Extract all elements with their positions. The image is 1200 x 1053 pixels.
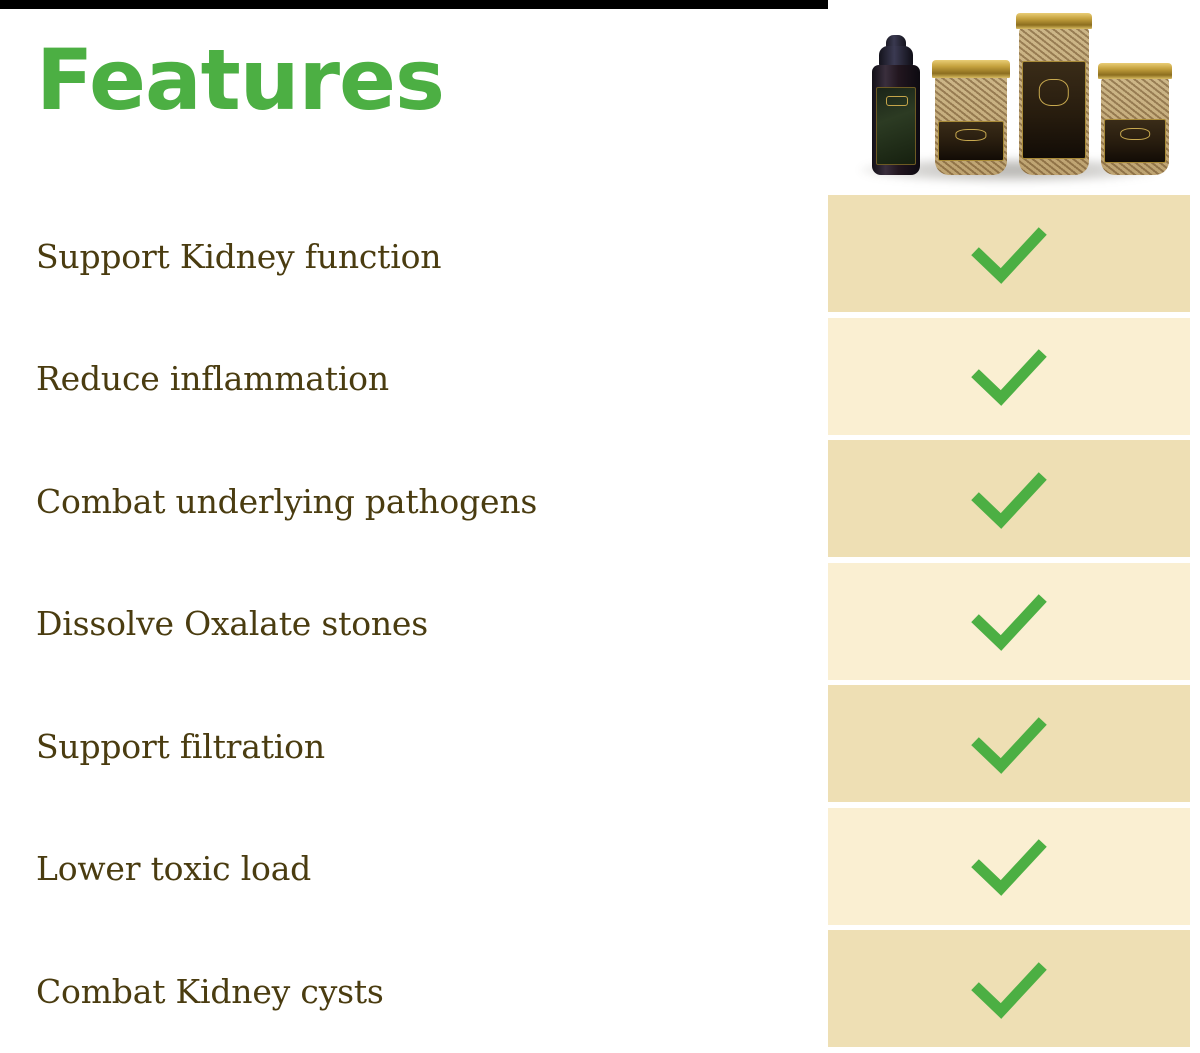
feature-row: Support Kidney function bbox=[0, 195, 828, 318]
feature-label: Support Kidney function bbox=[0, 237, 441, 276]
feature-row: Reduce inflammation bbox=[0, 318, 828, 441]
jar-lid bbox=[1098, 63, 1172, 79]
check-band bbox=[828, 195, 1190, 312]
jar-label bbox=[1104, 119, 1166, 163]
feature-row: Dissolve Oxalate stones bbox=[0, 563, 828, 686]
feature-label: Dissolve Oxalate stones bbox=[0, 604, 428, 643]
feature-row: Combat underlying pathogens bbox=[0, 440, 828, 563]
check-icon bbox=[970, 224, 1048, 284]
jar-label bbox=[938, 121, 1004, 161]
feature-label: Lower toxic load bbox=[0, 849, 311, 888]
features-slide: Features Support Kidney function Reduce … bbox=[0, 0, 1200, 1053]
page-title: Features bbox=[36, 38, 444, 122]
jar-lid bbox=[932, 60, 1010, 78]
check-band bbox=[828, 685, 1190, 802]
check-band-list bbox=[828, 195, 1190, 1053]
stonebreaker-jar bbox=[1016, 13, 1092, 175]
jar-lid bbox=[1016, 13, 1092, 29]
jar-label bbox=[1022, 61, 1086, 159]
feature-label: Combat underlying pathogens bbox=[0, 482, 537, 521]
product-lineup-image bbox=[828, 0, 1190, 195]
feature-row: Lower toxic load bbox=[0, 808, 828, 931]
feature-row: Support filtration bbox=[0, 685, 828, 808]
check-icon bbox=[970, 469, 1048, 529]
check-band bbox=[828, 440, 1190, 557]
top-accent-bar bbox=[0, 0, 828, 9]
tincture-dropper-bottle bbox=[872, 35, 920, 175]
check-band bbox=[828, 808, 1190, 925]
check-icon bbox=[970, 714, 1048, 774]
check-icon bbox=[970, 959, 1048, 1019]
feature-label: Support filtration bbox=[0, 727, 325, 766]
feature-row: Combat Kidney cysts bbox=[0, 930, 828, 1053]
milk-thistle-seeds-jar bbox=[1098, 63, 1172, 175]
checkmark-column bbox=[828, 0, 1200, 1053]
feature-label-list: Support Kidney function Reduce inflammat… bbox=[0, 195, 828, 1053]
check-icon bbox=[970, 591, 1048, 651]
feature-label: Reduce inflammation bbox=[0, 359, 389, 398]
check-band bbox=[828, 318, 1190, 435]
bottle-label bbox=[876, 87, 916, 165]
check-icon bbox=[970, 836, 1048, 896]
check-band bbox=[828, 930, 1190, 1047]
astragalus-root-jar bbox=[932, 60, 1010, 175]
check-band bbox=[828, 563, 1190, 680]
check-icon bbox=[970, 346, 1048, 406]
feature-label: Combat Kidney cysts bbox=[0, 972, 384, 1011]
